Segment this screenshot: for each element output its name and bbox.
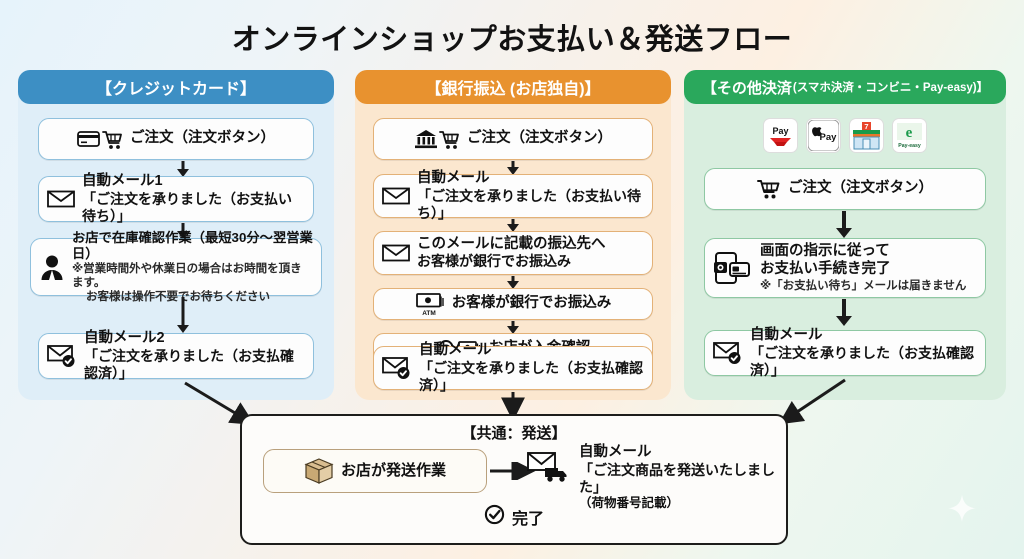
step-label: お客様が銀行でお振込み: [452, 295, 612, 313]
envelope-icon: [382, 243, 410, 263]
svg-text:Pay: Pay: [820, 132, 838, 143]
step-label-line2: 「ご注文を承りました（お支払い待ち）」: [82, 191, 305, 225]
step-label-line1: 自動メール2: [84, 330, 305, 348]
status-complete-label: 完了: [512, 505, 544, 529]
credit-card-cart-icon: [77, 128, 123, 150]
step-label-line2: 「ご注文を承りました（お支払確認済）」: [750, 345, 977, 379]
shipping-section: 【共通：発送】 お店が発送作業: [240, 414, 788, 545]
step-label: ご注文（注文ボタン）: [467, 130, 612, 148]
step-label: ご注文（注文ボタン）: [130, 130, 275, 148]
column-header-credit-card: 【クレジットカード】: [18, 70, 334, 104]
step-label-line1: 自動メール1: [82, 173, 305, 191]
shipping-mail-line1: 自動メール: [579, 444, 786, 462]
envelope-check-icon: [382, 356, 412, 380]
step-other-complete-payment[interactable]: 画面の指示に従って お支払い手続き完了 ※「お支払い待ち」メールは届きません: [704, 238, 986, 298]
column-header-other-payments: 【その他決済 (スマホ決済・コンビニ・Pay-easy)】: [684, 70, 1006, 104]
convenience-store-logo: 7: [849, 118, 884, 153]
svg-text:Pay: Pay: [772, 126, 788, 136]
shipping-mail-line2: 「ご注文商品を発送いたしました」: [579, 462, 786, 496]
step-text-block: 自動メール 「ご注文を承りました（お支払い待ち）」: [417, 170, 644, 222]
envelope-truck-icon: [527, 450, 571, 484]
column-header-bank-transfer: 【銀行振込 (お店独自)】: [355, 70, 671, 104]
step-label-line1: 画面の指示に従って: [760, 243, 966, 261]
step-bank-auto-mail-confirmed[interactable]: 自動メール 「ご注文を承りました（お支払確認済）」: [373, 346, 653, 390]
svg-text:ATM: ATM: [422, 310, 436, 317]
arrow-other-2: [836, 299, 852, 326]
step-label: ご注文（注文ボタン）: [788, 180, 933, 198]
envelope-icon: [382, 186, 410, 206]
svg-text:7: 7: [864, 122, 868, 131]
step-label-line1: 自動メール: [750, 327, 977, 345]
step-note-line2: お客様は操作不要でお待ちください: [72, 290, 313, 304]
step-text-block: 自動メール 「ご注文を承りました（お支払確認済）」: [419, 342, 644, 394]
arrow-other-1: [836, 211, 852, 238]
smartphone-payment-icon: [713, 251, 753, 285]
step-text-block: このメールに記載の振込先へ お客様が銀行でお振込み: [417, 236, 606, 271]
sparkle-decoration: [945, 493, 979, 527]
shipping-step-label: お店が発送作業: [341, 462, 446, 480]
flow-diagram-canvas: オンラインショップお支払い＆発送フロー 【クレジットカード】 ご注文（注文ボタン…: [0, 0, 1024, 559]
step-shipping-mail[interactable]: 自動メール 「ご注文商品を発送いたしました」 （荷物番号記載）: [527, 444, 786, 511]
step-text-block: 自動メール1 「ご注文を承りました（お支払い待ち）」: [82, 173, 305, 225]
column-header-sub: (スマホ決済・コンビニ・Pay-easy)】: [793, 79, 988, 95]
svg-text:Pay-easy: Pay-easy: [898, 143, 921, 149]
step-credit-auto-mail-1[interactable]: 自動メール1 「ご注文を承りました（お支払い待ち）」: [38, 176, 314, 222]
step-bank-customer-transfer[interactable]: ATM お客様が銀行でお振込み: [373, 288, 653, 320]
atm-icon: ATM: [415, 292, 445, 317]
step-other-order[interactable]: ご注文（注文ボタン）: [704, 168, 986, 210]
step-text-block: お店で在庫確認作業（最短30分〜翌営業日） ※営業時間外や休業日の場合はお時間を…: [72, 230, 313, 304]
step-label-line2: 「ご注文を承りました（お支払確認済）」: [84, 348, 305, 382]
rakuten-pay-logo: Pay: [763, 118, 798, 153]
apple-pay-logo: Pay: [806, 118, 841, 153]
step-text-block: 画面の指示に従って お支払い手続き完了 ※「お支払い待ち」メールは届きません: [760, 243, 966, 292]
step-bank-auto-mail-wait[interactable]: 自動メール 「ご注文を承りました（お支払い待ち）」: [373, 174, 653, 218]
step-credit-auto-mail-2[interactable]: 自動メール2 「ご注文を承りました（お支払確認済）」: [38, 333, 314, 379]
package-box-icon: [304, 457, 334, 485]
step-label-line2: お支払い手続き完了: [760, 261, 966, 279]
step-shop-shipping[interactable]: お店が発送作業: [263, 449, 487, 493]
step-note-line1: ※営業時間外や休業日の場合はお時間を頂きます。: [72, 262, 313, 290]
step-label-line1: このメールに記載の振込先へ: [417, 236, 606, 254]
step-text-block: 自動メール2 「ご注文を承りました（お支払確認済）」: [84, 330, 305, 382]
column-header-main: 【その他決済: [702, 77, 792, 98]
payment-logo-row: Pay Pay 7: [684, 118, 1006, 153]
step-label-line2: 「ご注文を承りました（お支払確認済）」: [419, 360, 644, 394]
staff-person-icon: [39, 253, 65, 281]
step-label-line2: お客様が銀行でお振込み: [417, 253, 606, 270]
arrow-credit-3: [176, 297, 190, 333]
envelope-icon: [47, 189, 75, 209]
cart-icon: [757, 178, 781, 200]
step-bank-order[interactable]: ご注文（注文ボタン）: [373, 118, 653, 160]
step-label-line1: 自動メール: [417, 170, 644, 188]
svg-text:e: e: [906, 125, 913, 141]
page-title: オンラインショップお支払い＆発送フロー: [0, 16, 1024, 58]
step-label-line1: お店で在庫確認作業（最短30分〜翌営業日）: [72, 230, 313, 262]
step-text-block: 自動メール 「ご注文を承りました（お支払確認済）」: [750, 327, 977, 379]
step-credit-order[interactable]: ご注文（注文ボタン）: [38, 118, 314, 160]
bank-cart-icon: [414, 128, 460, 150]
step-bank-transfer-instruction[interactable]: このメールに記載の振込先へ お客様が銀行でお振込み: [373, 231, 653, 275]
step-note: ※「お支払い待ち」メールは届きません: [760, 279, 966, 293]
pay-easy-logo: e Pay-easy: [892, 118, 927, 153]
status-complete: 完了: [242, 504, 786, 530]
shipping-section-title: 【共通：発送】: [242, 422, 786, 443]
shipping-mail-text-block: 自動メール 「ご注文商品を発送いたしました」 （荷物番号記載）: [579, 444, 786, 511]
envelope-check-icon: [47, 344, 77, 368]
step-credit-stock-check[interactable]: お店で在庫確認作業（最短30分〜翌営業日） ※営業時間外や休業日の場合はお時間を…: [30, 238, 322, 296]
step-other-auto-mail-confirmed[interactable]: 自動メール 「ご注文を承りました（お支払確認済）」: [704, 330, 986, 376]
check-circle-icon: [484, 504, 505, 530]
envelope-check-icon: [713, 341, 743, 365]
step-label-line2: 「ご注文を承りました（お支払い待ち）」: [417, 188, 644, 222]
step-label-line1: 自動メール: [419, 342, 644, 360]
